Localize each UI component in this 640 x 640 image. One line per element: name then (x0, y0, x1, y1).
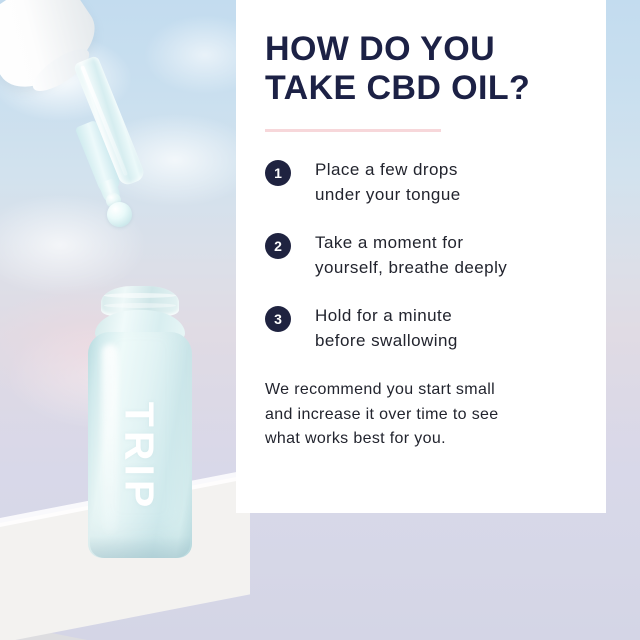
oil-droplet-large (107, 202, 132, 227)
step-text: Hold for a minute before swallowing (315, 304, 458, 353)
list-item: 2 Take a moment for yourself, breathe de… (265, 231, 588, 280)
bottle-base-shading (90, 536, 190, 558)
bottle-thread (104, 293, 176, 298)
list-item: 1 Place a few drops under your tongue (265, 158, 588, 207)
title-divider (265, 129, 441, 132)
bottle-thread (104, 303, 176, 308)
steps-list: 1 Place a few drops under your tongue 2 … (265, 158, 588, 354)
glass-dropper (0, 0, 206, 234)
step-number-badge: 3 (265, 306, 291, 332)
promo-graphic: TRIP HOW DO YOU TAKE CBD OIL? 1 Place a … (0, 0, 640, 640)
page-title: HOW DO YOU TAKE CBD OIL? (265, 30, 588, 109)
list-item: 3 Hold for a minute before swallowing (265, 304, 588, 353)
step-number-badge: 2 (265, 233, 291, 259)
step-number-badge: 1 (265, 160, 291, 186)
content-card-inner: HOW DO YOU TAKE CBD OIL? 1 Place a few d… (265, 30, 588, 468)
cbd-oil-bottle: TRIP (82, 286, 198, 566)
step-text: Place a few drops under your tongue (315, 158, 461, 207)
brand-label-trip: TRIP (119, 382, 160, 532)
content-card: HOW DO YOU TAKE CBD OIL? 1 Place a few d… (236, 0, 606, 513)
step-text: Take a moment for yourself, breathe deep… (315, 231, 507, 280)
recommendation-note: We recommend you start small and increas… (265, 378, 588, 452)
